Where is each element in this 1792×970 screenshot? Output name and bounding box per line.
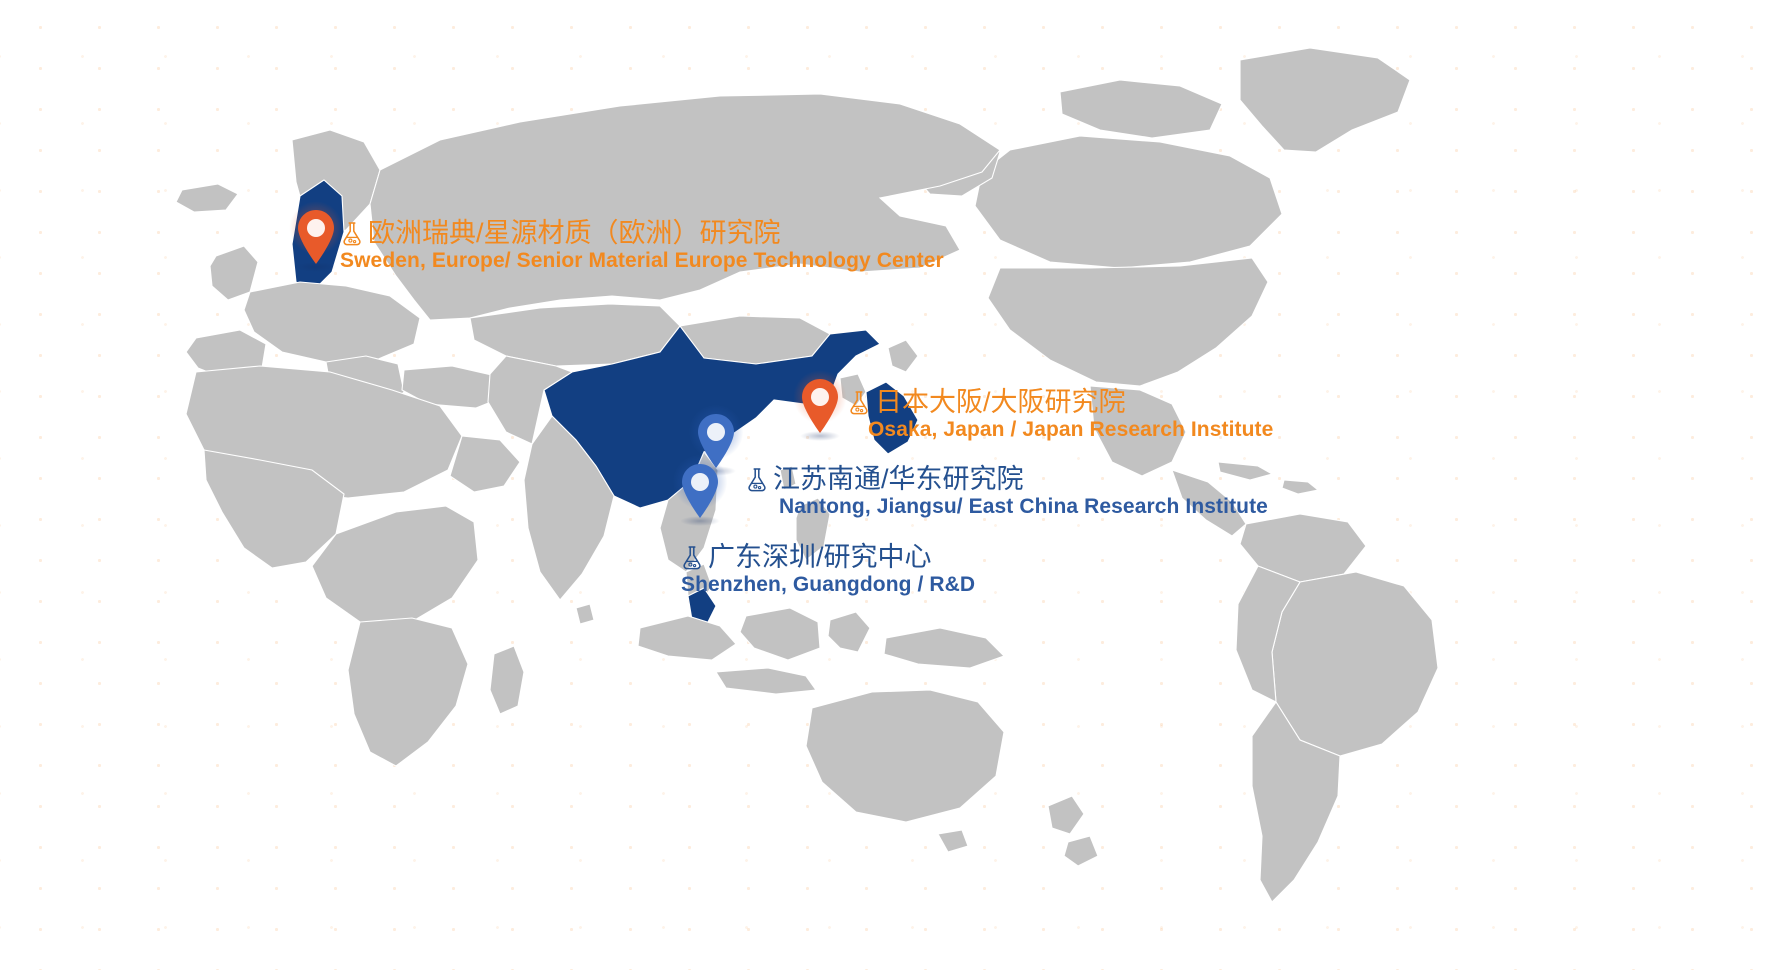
country-new-guinea xyxy=(884,628,1004,668)
world-map-infographic: 欧洲瑞典/星源材质（欧洲）研究院 Sweden, Europe/ Senior … xyxy=(0,0,1792,970)
label-name-cn: 日本大阪/大阪研究院 xyxy=(875,388,1126,416)
country-usa xyxy=(988,258,1268,386)
country-sri-lanka xyxy=(576,604,594,624)
country-borneo xyxy=(740,608,820,660)
country-western-europe xyxy=(244,282,420,362)
country-indonesia-sumatra xyxy=(638,616,736,660)
label-name-en: Nantong, Jiangsu/ East China Research In… xyxy=(745,496,1268,518)
country-iceland xyxy=(176,184,238,212)
label-osaka-japan[interactable]: 日本大阪/大阪研究院 Osaka, Japan / Japan Research… xyxy=(847,388,1273,441)
label-name-en: Sweden, Europe/ Senior Material Europe T… xyxy=(340,250,944,272)
country-brazil xyxy=(1272,572,1438,756)
label-sweden-europe[interactable]: 欧洲瑞典/星源材质（欧洲）研究院 Sweden, Europe/ Senior … xyxy=(340,219,944,272)
pin-shadow xyxy=(800,431,840,441)
location-pin-icon xyxy=(678,462,722,520)
label-primary-row: 江苏南通/华东研究院 xyxy=(745,465,1268,493)
label-nantong-jiangsu[interactable]: 江苏南通/华东研究院 Nantong, Jiangsu/ East China … xyxy=(745,465,1268,518)
pin-shadow xyxy=(680,516,720,526)
country-east-africa-horn xyxy=(450,436,520,492)
location-pin-icon xyxy=(294,208,338,266)
label-name-cn: 广东深圳/研究中心 xyxy=(708,543,932,571)
country-indonesia-java xyxy=(716,668,816,694)
country-southern-africa xyxy=(348,618,468,766)
pin-shadow xyxy=(296,262,336,272)
country-australia xyxy=(806,690,1004,822)
flask-icon xyxy=(340,221,364,247)
label-name-cn: 江苏南通/华东研究院 xyxy=(773,465,1024,493)
label-name-en: Shenzhen, Guangdong / R&D xyxy=(680,574,975,596)
country-caribbean-islands xyxy=(1282,480,1318,494)
label-primary-row: 欧洲瑞典/星源材质（欧洲）研究院 xyxy=(340,219,944,247)
country-tasmania xyxy=(938,830,968,852)
country-madagascar xyxy=(490,646,524,714)
flask-icon xyxy=(745,467,769,493)
label-primary-row: 广东深圳/研究中心 xyxy=(680,543,975,571)
label-name-cn: 欧洲瑞典/星源材质（欧洲）研究院 xyxy=(368,219,781,247)
label-name-en: Osaka, Japan / Japan Research Institute xyxy=(847,419,1273,441)
country-canada xyxy=(975,136,1282,268)
country-sulawesi xyxy=(828,612,870,652)
country-greenland xyxy=(1240,48,1410,152)
flask-icon xyxy=(680,545,704,571)
country-russia xyxy=(370,94,1000,320)
country-canada-arctic xyxy=(1060,80,1222,138)
label-primary-row: 日本大阪/大阪研究院 xyxy=(847,388,1273,416)
label-shenzhen-guangdong[interactable]: 广东深圳/研究中心 Shenzhen, Guangdong / R&D xyxy=(680,543,975,596)
flask-icon xyxy=(847,390,871,416)
location-pin-icon xyxy=(798,377,842,435)
country-new-zealand xyxy=(1048,796,1098,866)
